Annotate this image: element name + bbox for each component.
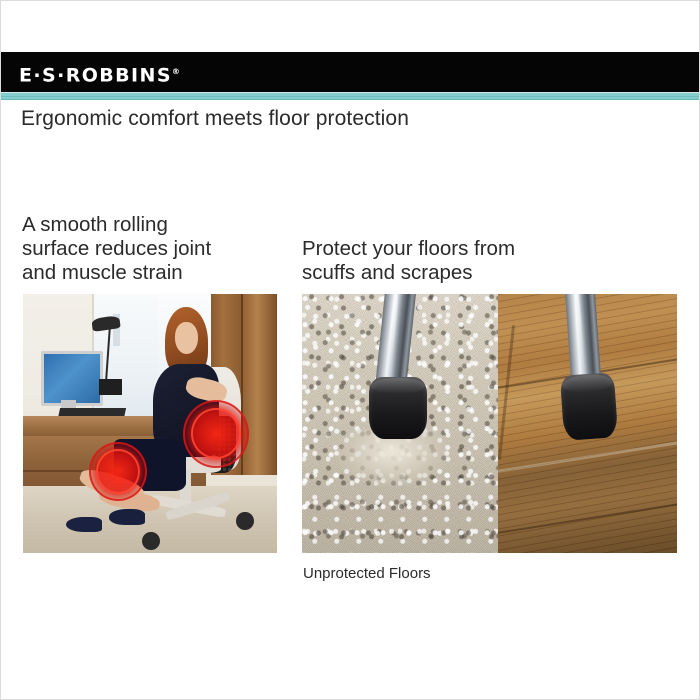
chrome-highlight xyxy=(573,294,584,373)
woman-face xyxy=(175,322,198,353)
accent-divider xyxy=(1,92,699,100)
pain-indicator-lower-back xyxy=(183,400,249,467)
left-column-heading: A smooth rolling surface reduces joint a… xyxy=(22,213,284,285)
right-heading-line-1: Protect your floors from xyxy=(302,237,602,261)
accent-divider-line xyxy=(1,96,699,97)
black-caster-wheel-wood xyxy=(560,372,618,440)
woman-shoe-back xyxy=(109,509,145,525)
office-chair-caster-right xyxy=(236,512,254,530)
left-heading-line-1: A smooth rolling xyxy=(22,213,284,237)
black-caster-wheel-carpet xyxy=(369,377,428,439)
brand-bar: E·S·ROBBINS® xyxy=(1,52,699,92)
chrome-highlight xyxy=(386,294,401,378)
caster-rim-highlight xyxy=(371,378,425,394)
brand-logo: E·S·ROBBINS® xyxy=(19,62,180,85)
office-ergonomics-photo xyxy=(23,294,277,553)
brand-logo-text: E·S·ROBBINS xyxy=(19,64,172,86)
registered-trademark-icon: ® xyxy=(172,67,180,76)
caster-on-carpet-photo xyxy=(302,294,498,553)
left-heading-line-3: and muscle strain xyxy=(22,261,284,285)
photo-caption-unprotected-floors: Unprotected Floors xyxy=(303,565,431,582)
right-column-heading: Protect your floors from scuffs and scra… xyxy=(302,237,602,285)
woman-shoe-front xyxy=(66,517,102,533)
office-monitor xyxy=(41,351,103,406)
left-heading-line-2: surface reduces joint xyxy=(22,237,284,261)
page-tagline: Ergonomic comfort meets floor protection xyxy=(21,107,409,131)
right-heading-line-2: scuffs and scrapes xyxy=(302,261,602,285)
desk-lamp-base xyxy=(99,379,122,395)
marketing-page: E·S·ROBBINS® Ergonomic comfort meets flo… xyxy=(0,0,700,700)
caster-on-hardwood-photo xyxy=(498,294,677,553)
caster-rim-highlight xyxy=(562,374,612,394)
